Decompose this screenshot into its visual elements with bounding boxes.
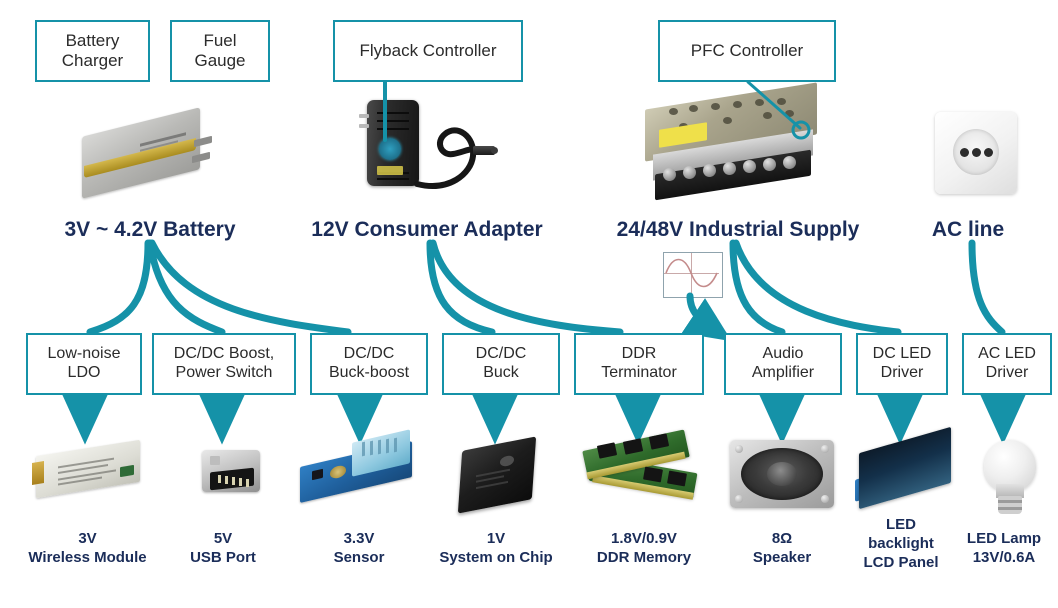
speaker-image — [730, 440, 836, 510]
load-line-2: Wireless Module — [28, 549, 146, 566]
wall-socket-image — [935, 112, 1019, 196]
block-dcdc-boost[interactable]: DC/DC Boost, Power Switch — [152, 333, 296, 395]
load-label-usb-port: 5V USB Port — [160, 530, 286, 568]
sine-wave-icon — [663, 252, 723, 298]
callout-line-1: Battery — [66, 31, 120, 50]
block-line-2: Driver — [881, 364, 924, 381]
load-line-1: 3V — [78, 530, 96, 547]
block-line-1: DC/DC — [344, 345, 395, 362]
load-label-system-on-chip: 1V System on Chip — [416, 530, 576, 568]
load-line-2: System on Chip — [439, 549, 552, 566]
block-line-2: Amplifier — [752, 364, 814, 381]
block-line-2: Buck — [483, 364, 519, 381]
block-label: Low-noise LDO — [48, 345, 121, 383]
callout-line-1: Fuel — [203, 31, 236, 50]
block-label: DC/DC Buck-boost — [329, 345, 409, 383]
sensor-board-image — [300, 436, 418, 502]
ac-dc-wall-adapter-image — [345, 100, 510, 206]
wireless-module-image — [36, 440, 144, 500]
block-dcdc-buck-boost[interactable]: DC/DC Buck-boost — [310, 333, 428, 395]
load-line-3: LCD Panel — [863, 554, 938, 571]
block-line-1: DDR — [622, 345, 657, 362]
block-label: DDR Terminator — [601, 345, 677, 383]
block-line-1: AC LED — [978, 345, 1036, 362]
block-label: DC/DC Boost, Power Switch — [174, 345, 274, 383]
block-dcdc-buck[interactable]: DC/DC Buck — [442, 333, 560, 395]
block-line-1: DC LED — [873, 345, 932, 362]
callout-pfc-controller[interactable]: PFC Controller — [658, 20, 836, 82]
load-line-1: 5V — [214, 530, 232, 547]
block-label: DC/DC Buck — [476, 345, 527, 383]
load-label-sensor: 3.3V Sensor — [296, 530, 422, 568]
callout-line-2: Gauge — [194, 51, 245, 70]
load-line-1: LED — [886, 516, 916, 533]
block-line-2: Driver — [986, 364, 1029, 381]
load-line-2: DDR Memory — [597, 549, 691, 566]
load-line-2: Speaker — [753, 549, 811, 566]
block-audio-amplifier[interactable]: Audio Amplifier — [724, 333, 842, 395]
load-line-1: 1.8V/0.9V — [611, 530, 677, 547]
block-label: DC LED Driver — [873, 345, 932, 383]
callout-label: Battery Charger — [62, 31, 123, 70]
source-label-acline: AC line — [878, 218, 1058, 242]
mini-usb-connector-image — [192, 444, 268, 500]
block-line-1: DC/DC Boost, — [174, 345, 274, 362]
block-line-1: Low-noise — [48, 345, 121, 362]
soc-chip-image — [460, 440, 538, 510]
source-label-battery: 3V ~ 4.2V Battery — [0, 218, 300, 242]
lipo-battery-image — [82, 108, 222, 204]
load-label-led-lamp: LED Lamp 13V/0.6A — [950, 530, 1058, 568]
block-dc-led-driver[interactable]: DC LED Driver — [856, 333, 948, 395]
block-line-2: Buck-boost — [329, 364, 409, 381]
block-label: Audio Amplifier — [752, 345, 814, 383]
callout-line-2: Charger — [62, 51, 123, 70]
industrial-power-supply-image — [645, 96, 830, 204]
block-line-2: Terminator — [601, 364, 677, 381]
block-ac-led-driver[interactable]: AC LED Driver — [962, 333, 1052, 395]
lcd-panel-image — [855, 440, 955, 506]
block-label: AC LED Driver — [978, 345, 1036, 383]
block-ddr-terminator[interactable]: DDR Terminator — [574, 333, 704, 395]
load-line-1: LED Lamp — [967, 530, 1041, 547]
callout-fuel-gauge[interactable]: Fuel Gauge — [170, 20, 270, 82]
callout-flyback-controller[interactable]: Flyback Controller — [333, 20, 523, 82]
load-line-1: 8Ω — [772, 530, 792, 547]
load-label-speaker: 8Ω Speaker — [722, 530, 842, 568]
callout-battery-charger[interactable]: Battery Charger — [35, 20, 150, 82]
source-label-adapter: 12V Consumer Adapter — [277, 218, 577, 242]
load-line-1: 1V — [487, 530, 505, 547]
load-line-2: USB Port — [190, 549, 256, 566]
load-line-1: 3.3V — [344, 530, 375, 547]
source-label-industrial: 24/48V Industrial Supply — [588, 218, 888, 242]
load-label-wireless-module: 3V Wireless Module — [5, 530, 170, 568]
block-line-1: DC/DC — [476, 345, 527, 362]
load-line-2: 13V/0.6A — [973, 549, 1036, 566]
load-line-2: Sensor — [334, 549, 385, 566]
callout-line-1: Flyback Controller — [360, 41, 497, 61]
load-label-ddr-memory: 1.8V/0.9V DDR Memory — [568, 530, 720, 568]
block-low-noise-ldo[interactable]: Low-noise LDO — [26, 333, 142, 395]
load-label-lcd-panel: LED backlight LCD Panel — [843, 516, 959, 572]
block-line-2: LDO — [68, 364, 101, 381]
led-bulb-image — [968, 440, 1052, 516]
callout-line-1: PFC Controller — [691, 41, 803, 61]
block-line-2: Power Switch — [176, 364, 273, 381]
callout-label: Fuel Gauge — [194, 31, 245, 70]
block-line-1: Audio — [763, 345, 804, 362]
power-tree-diagram: Battery Charger Fuel Gauge Flyback Contr… — [0, 0, 1058, 608]
ddr-memory-image — [582, 432, 702, 506]
load-line-2: backlight — [868, 535, 934, 552]
